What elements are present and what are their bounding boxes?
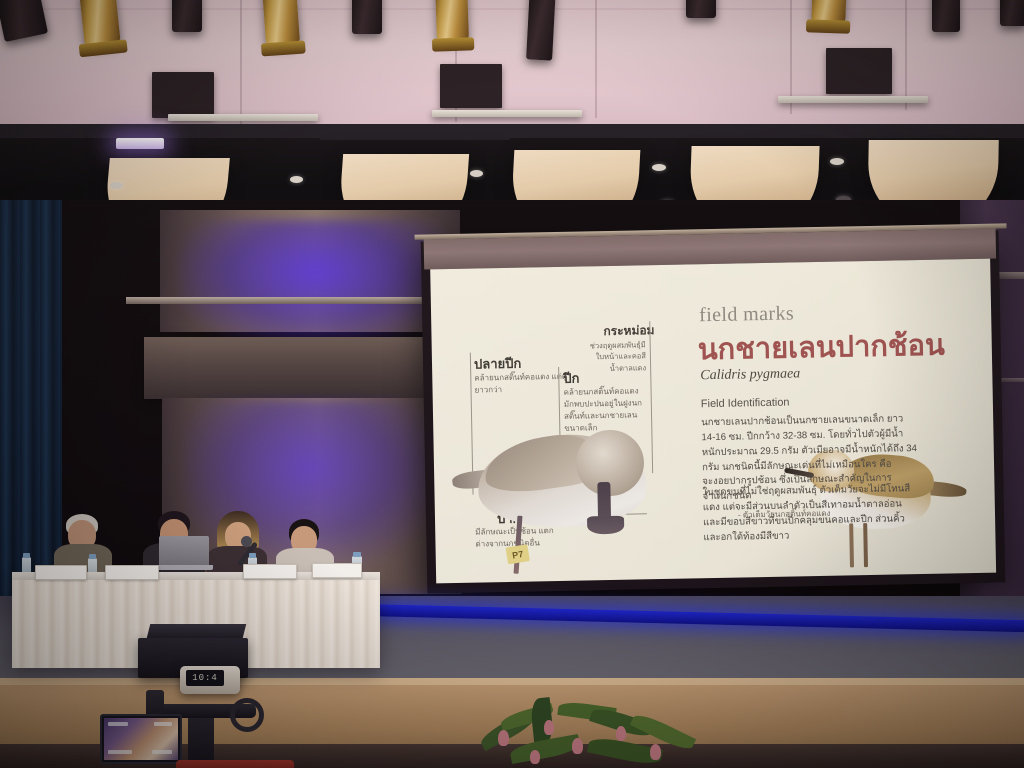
ceiling (0, 0, 1024, 128)
laptop-keyboard[interactable] (155, 565, 213, 570)
wall-blue-wash-upper (180, 220, 450, 350)
wall-rail-upper (126, 297, 466, 304)
ceiling-speaker-2 (440, 64, 502, 108)
water-bottle-4-cap (353, 552, 361, 557)
stage-led-bar (116, 138, 164, 149)
water-bottle-2-cap (89, 554, 96, 559)
water-bottle-1-cap (23, 553, 30, 558)
gold-light-fixture-2 (262, 0, 300, 47)
dark-light-fixture-6 (932, 0, 960, 32)
ceiling-speaker-3 (826, 48, 892, 94)
dark-light-fixture-3 (352, 0, 382, 34)
annotation-text-wingtip: คล้ายนกสติ๊นท์คอแดง แต่ดูยาวกว่า (474, 371, 569, 397)
slide-body-paragraph-2: ในชุดขนที่ไม่ใช่ฤดูผสมพันธุ์ ตัวเต็มวัยจ… (702, 482, 919, 546)
dark-light-fixture-1 (0, 0, 48, 42)
dark-light-fixture-7 (1000, 0, 1024, 26)
namecard-1 (35, 565, 87, 580)
ceiling-speaker-1 (152, 72, 214, 118)
namecard-2 (105, 565, 159, 580)
video-camera-rig: 10:4 (88, 664, 308, 768)
stage-spotlight-2 (290, 176, 303, 183)
annotation-label-crown: กระหม่อม (603, 321, 654, 341)
ceiling-light-panel-3 (778, 96, 928, 103)
slide-section-heading: Field Identification (701, 397, 790, 411)
laptop-screen[interactable] (159, 536, 209, 566)
dark-light-fixture-5 (686, 0, 716, 18)
microphone-head (241, 536, 252, 547)
stage-spotlight-3 (470, 170, 483, 177)
dark-light-fixture-4 (526, 0, 556, 61)
stage-spotlight-5 (652, 164, 666, 171)
camera-base-plate (176, 760, 294, 768)
conference-photo-scene: ปลายปีก คล้ายนกสติ๊นท์คอแดง แต่ดูยาวกว่า… (0, 0, 1024, 768)
slide-scientific-name: Calidris pygmaea (700, 366, 800, 384)
camera-status-display: 10:4 (186, 670, 224, 686)
namecard-4 (312, 563, 362, 578)
annotation-text-crown: ช่วงฤดูผสมพันธุ์มีใบหน้าและคอสีน้ำตาลแดง (574, 339, 647, 374)
projection-screen: ปลายปีก คล้ายนกสติ๊นท์คอแดง แต่ดูยาวกว่า… (421, 230, 1006, 593)
camera-adjust-knob[interactable] (230, 698, 264, 732)
gold-light-fixture-3 (435, 0, 469, 43)
stage-spotlight-1 (110, 182, 123, 189)
presentation-slide: ปลายปีก คล้ายนกสติ๊นท์คอแดง แต่ดูยาวกว่า… (430, 259, 996, 584)
ceiling-light-panel-2 (432, 110, 582, 117)
stage-floral-arrangement (470, 700, 730, 768)
ceiling-light-panel-1 (168, 114, 318, 121)
wall-band (144, 337, 464, 399)
water-bottle-3-cap (249, 553, 256, 558)
namecard-3 (243, 564, 297, 579)
bird-bill-spatula (587, 516, 624, 535)
stage-spotlight-7 (830, 158, 844, 165)
stage-curtain-left (0, 200, 62, 620)
dark-light-fixture-2 (172, 0, 202, 32)
slide-title: นกชายเลนปากช้อน (697, 322, 945, 373)
gold-light-fixture-1 (79, 0, 121, 48)
camera-flip-screen[interactable] (100, 714, 182, 764)
spoon-billed-sandpiper-illustration: P7 (455, 414, 698, 579)
slide-eyebrow: field marks (699, 302, 794, 327)
gold-light-fixture-4 (811, 0, 847, 25)
bird-leg-flag: P7 (505, 544, 529, 564)
